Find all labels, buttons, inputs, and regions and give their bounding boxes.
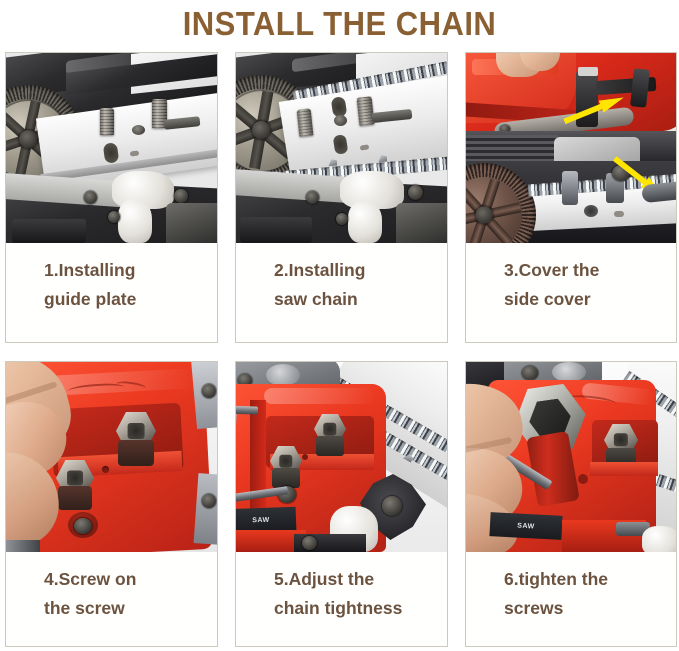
step-5-caption-line-2: chain tightness <box>274 594 447 623</box>
step-4-caption-line-1: 4.Screw on <box>44 565 217 594</box>
step-1-caption: 1.Installing guide plate <box>6 243 217 342</box>
step-3-caption-line-2: side cover <box>504 285 676 314</box>
step-3-photo <box>466 53 676 243</box>
step-4-caption: 4.Screw on the screw <box>6 552 217 646</box>
steps-grid: 1.Installing guide plate <box>5 52 674 647</box>
step-3-caption: 3.Cover the side cover <box>466 243 676 342</box>
stud-icon <box>100 108 114 135</box>
step-card-4: 4.Screw on the screw <box>5 361 218 647</box>
step-4-photo <box>6 362 217 552</box>
step-6-caption: 6.tighten the screws <box>466 552 676 646</box>
step-5-caption-line-1: 5.Adjust the <box>274 565 447 594</box>
step-3-caption-line-1: 3.Cover the <box>504 256 676 285</box>
step-5-photo: SAW <box>236 362 447 552</box>
stud-icon <box>297 108 314 136</box>
step-card-2: 2.Installing saw chain <box>235 52 448 343</box>
step-1-caption-line-1: 1.Installing <box>44 256 217 285</box>
step-5-caption: 5.Adjust the chain tightness <box>236 552 447 646</box>
step-2-caption-line-2: saw chain <box>274 285 447 314</box>
step-2-caption-line-1: 2.Installing <box>274 256 447 285</box>
label-strip: SAW <box>489 512 562 540</box>
step-6-photo: SAW <box>466 362 676 552</box>
step-card-6: SAW 6.tighten the screws <box>465 361 677 647</box>
step-card-1: 1.Installing guide plate <box>5 52 218 343</box>
step-4-caption-line-2: the screw <box>44 594 217 623</box>
step-6-caption-line-2: screws <box>504 594 676 623</box>
step-1-photo <box>6 53 217 243</box>
step-6-caption-line-1: 6.tighten the <box>504 565 676 594</box>
step-1-caption-line-2: guide plate <box>44 285 217 314</box>
step-card-5: SAW 5.Adjust the chain tightness <box>235 361 448 647</box>
step-2-caption: 2.Installing saw chain <box>236 243 447 342</box>
page-title: INSTALL THE CHAIN <box>20 0 658 48</box>
step-card-3: 3.Cover the side cover <box>465 52 677 343</box>
step-2-photo <box>236 53 447 243</box>
